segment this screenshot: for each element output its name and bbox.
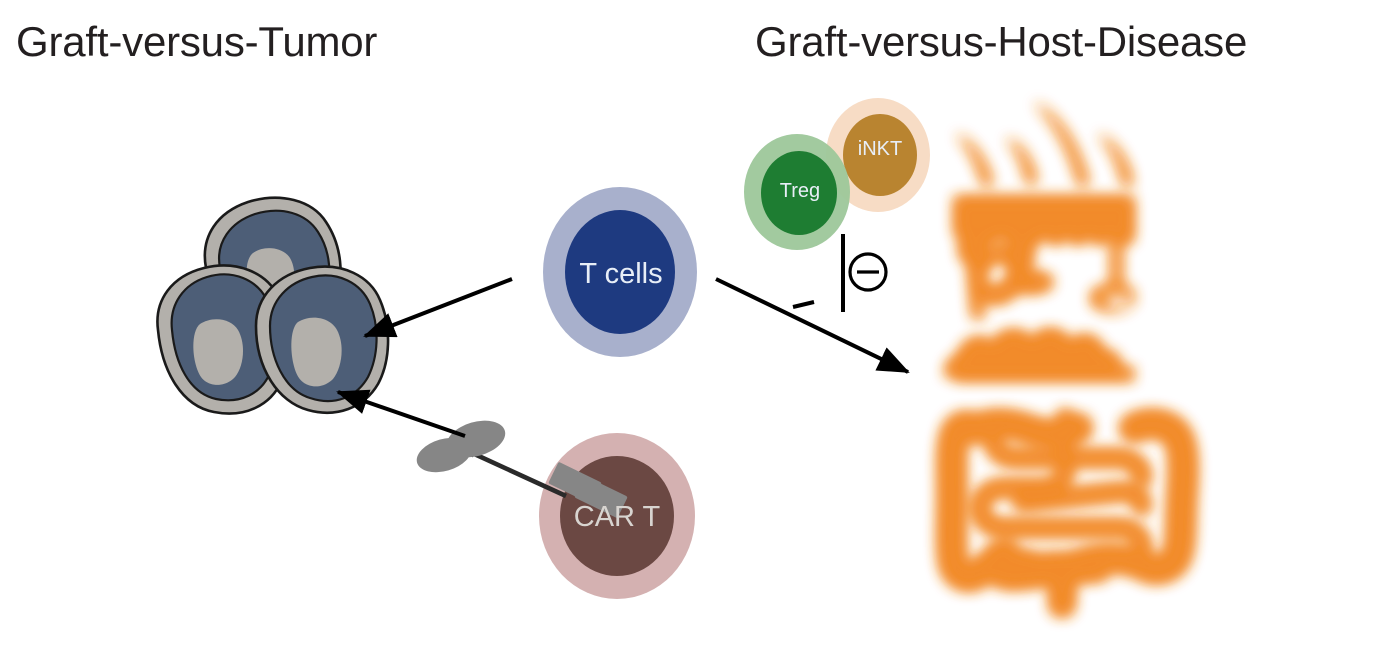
t-cell-nucleus xyxy=(565,210,675,334)
intestine-icon xyxy=(952,418,1184,604)
t-cells-cell xyxy=(543,187,697,357)
skin-icon xyxy=(946,102,1135,380)
arrow-tcells-to-tumor xyxy=(365,279,512,336)
figure-canvas: Graft-versus-Tumor Graft-versus-Host-Dis… xyxy=(0,0,1399,659)
treg-nucleus xyxy=(761,151,837,235)
arrow-cart-to-tumor xyxy=(338,392,465,436)
diagram-graphics xyxy=(0,0,1399,659)
inhibition-symbol xyxy=(843,234,886,312)
tumor-cell-cluster xyxy=(157,198,388,414)
treg-cell xyxy=(744,134,850,250)
minus-mark-annotation xyxy=(793,302,814,307)
arrow-tcells-to-gvhd xyxy=(716,279,908,372)
inkt-nucleus xyxy=(843,114,917,196)
